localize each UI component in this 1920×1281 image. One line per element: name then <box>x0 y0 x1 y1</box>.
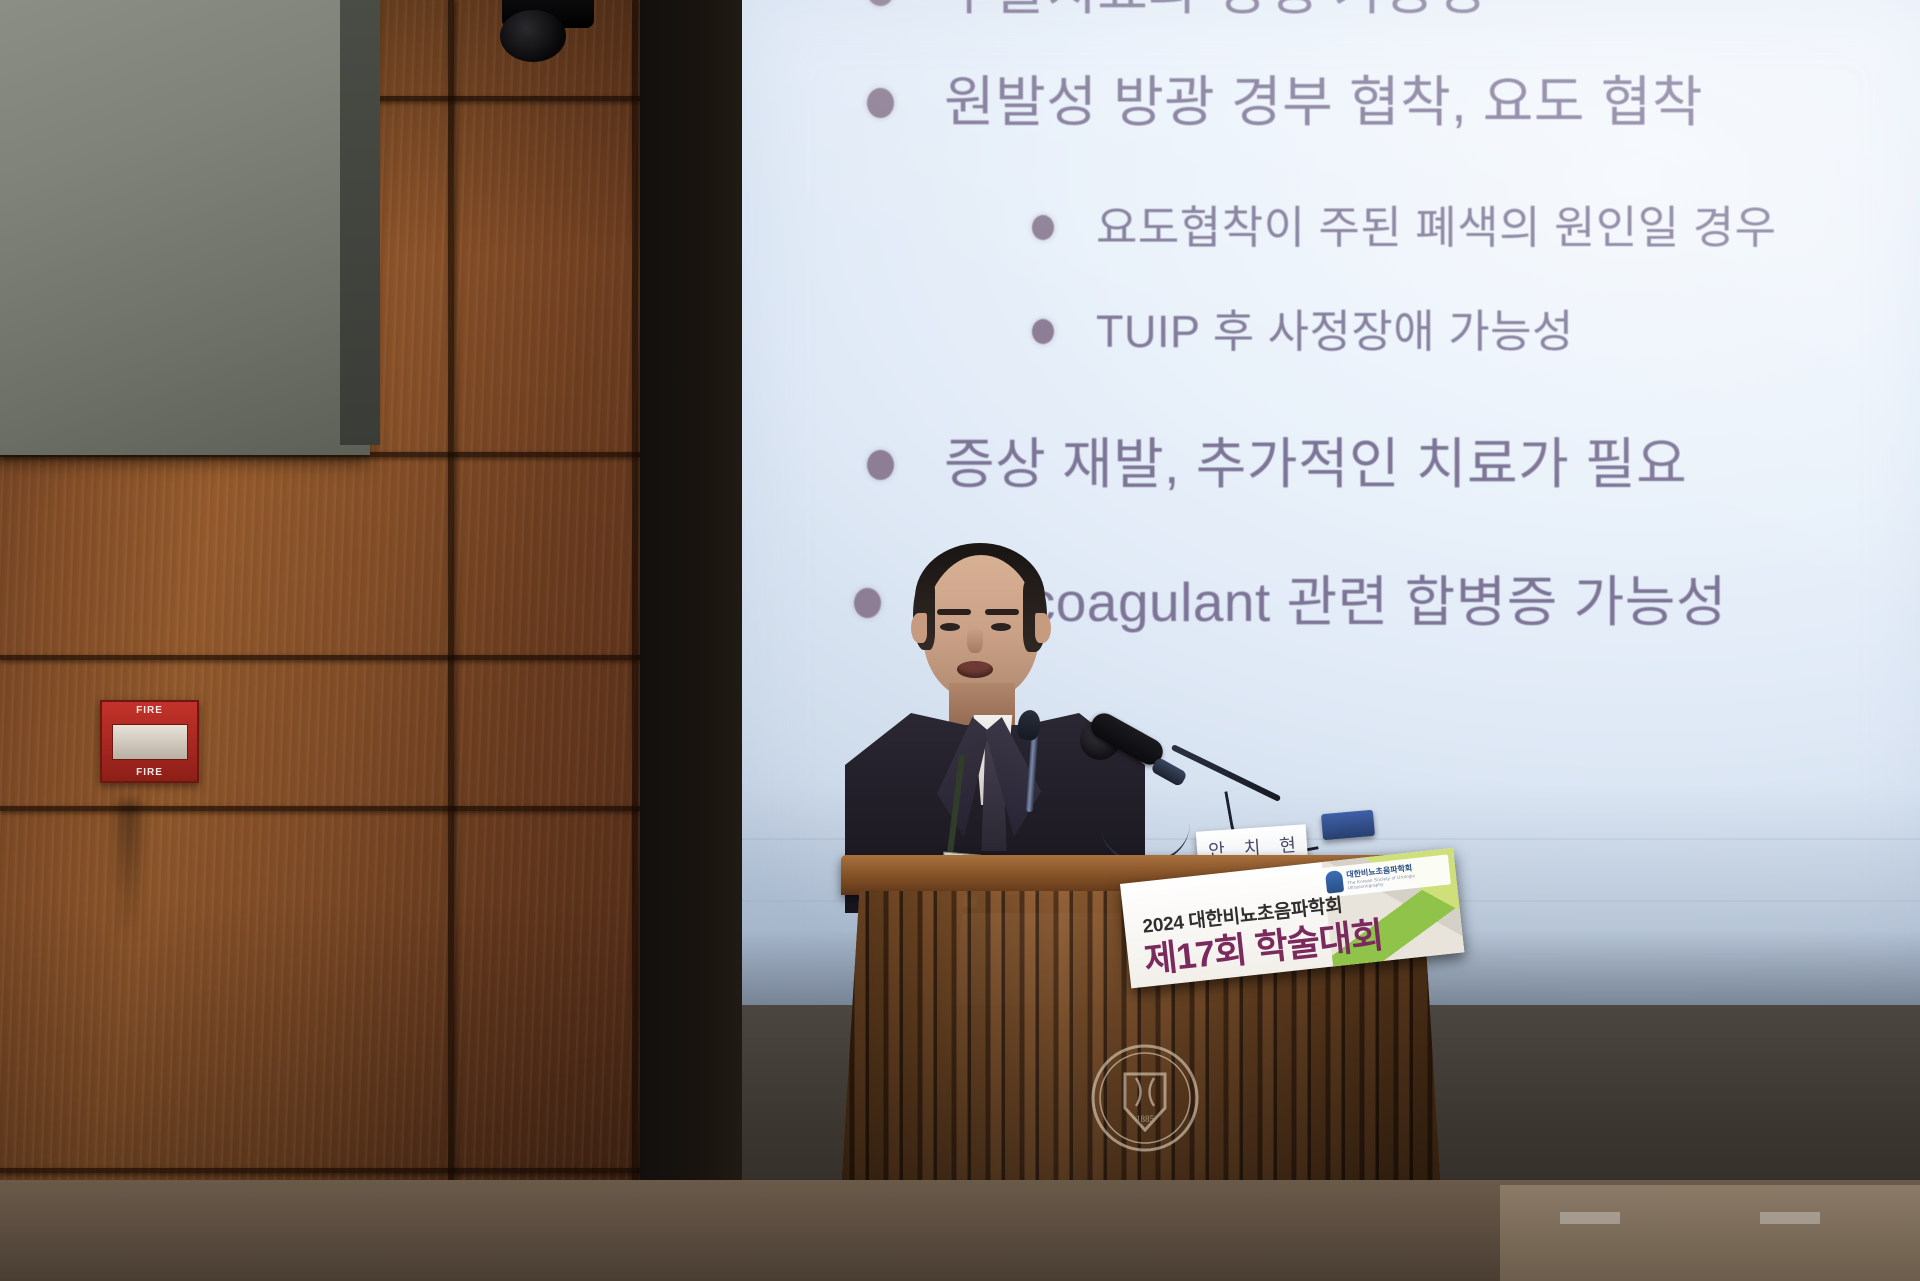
slide-bullet-3-text: TUIP 후 사정장애 가능성 <box>1096 308 1574 355</box>
bullet-dot-icon <box>867 88 894 118</box>
nose <box>967 627 983 653</box>
bullet-dot-icon <box>1032 319 1054 344</box>
slide-bullet-4-text: 증상 재발, 추가적인 치료가 필요 <box>944 436 1687 494</box>
floor-strip-right <box>1500 1185 1920 1281</box>
eye-right <box>991 623 1011 631</box>
wall-smudge <box>118 800 140 940</box>
slide-bullet-3: TUIP 후 사정장애 가능성 <box>1032 308 1574 355</box>
panel-seam <box>0 806 640 811</box>
eye-left <box>940 623 960 631</box>
slide-bullet-0-text: 수술치료와 병행 가능성 <box>944 0 1487 20</box>
eyebrow-left <box>937 609 971 615</box>
panel-seam <box>632 0 638 1281</box>
mouth <box>957 661 993 678</box>
floor-mark <box>1560 1212 1620 1224</box>
svg-text:1885: 1885 <box>1136 1114 1155 1124</box>
ceiling-camera-icon <box>500 10 566 62</box>
bullet-dot-icon <box>867 450 894 480</box>
panel-seam <box>0 1168 640 1173</box>
blue-device <box>1321 810 1375 840</box>
bullet-dot-icon <box>1032 215 1054 240</box>
wall-gap-strip <box>640 0 750 1281</box>
ear-right <box>1035 613 1051 643</box>
acoustic-panel <box>0 0 370 455</box>
slide-bullet-2: 요도협착이 주된 폐색의 원인일 경우 <box>1032 204 1777 251</box>
acoustic-panel-edge <box>340 0 380 445</box>
ear-left <box>911 613 927 643</box>
fire-alarm-bottom-label: FIRE <box>136 767 163 778</box>
slide-bullet-0: 수술치료와 병행 가능성 <box>867 0 1487 20</box>
yonsei-university-emblem: 1885 <box>1090 1040 1200 1170</box>
slide-bullet-4: 증상 재발, 추가적인 치료가 필요 <box>867 436 1687 494</box>
fire-alarm-window <box>112 724 188 760</box>
presentation-photo-scene: FIRE FIRE 수술치료와 병행 가능성 원발성 방광 경부 협착, 요도 … <box>0 0 1920 1281</box>
panel-seam <box>0 655 640 660</box>
microphone-clip <box>1150 757 1187 787</box>
slide-bullet-1-text: 원발성 방광 경부 협착, 요도 협착 <box>944 74 1703 132</box>
eyebrow-right <box>985 609 1019 615</box>
floor-mark <box>1760 1212 1820 1224</box>
panel-seam <box>448 0 454 1281</box>
bullet-dot-icon <box>867 0 894 6</box>
fire-alarm-box: FIRE FIRE <box>100 700 199 783</box>
slide-bullet-2-text: 요도협착이 주된 폐색의 원인일 경우 <box>1096 204 1777 251</box>
fire-alarm-top-label: FIRE <box>136 705 163 716</box>
slide-bullet-1: 원발성 방광 경부 협착, 요도 협착 <box>867 74 1703 132</box>
